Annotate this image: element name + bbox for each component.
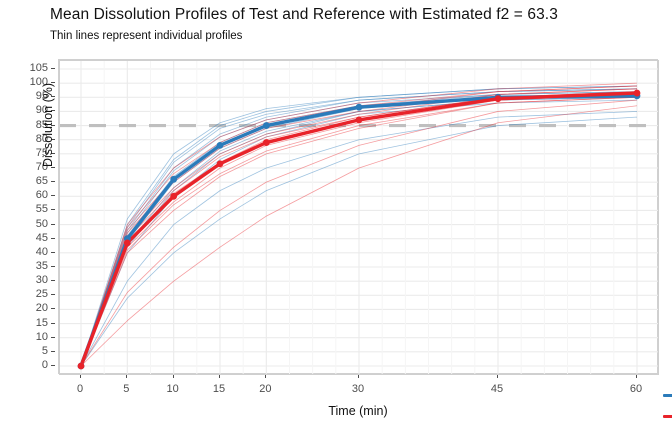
legend-item-r[interactable]: R	[663, 389, 672, 401]
y-tick-mark	[51, 238, 55, 239]
legend-line	[663, 415, 672, 418]
x-tick-label: 0	[77, 383, 83, 395]
plot-area	[59, 60, 659, 375]
legend-line	[663, 394, 672, 397]
y-tick-mark	[51, 308, 55, 309]
x-axis-ticks: 05101520304560	[0, 374, 672, 404]
y-tick-mark	[51, 266, 55, 267]
y-tick-label: 35	[36, 260, 48, 272]
y-tick-label: 30	[36, 274, 48, 286]
legend-item-t[interactable]: T	[663, 410, 672, 422]
chart-title: Mean Dissolution Profiles of Test and Re…	[50, 6, 558, 24]
y-tick-label: 5	[42, 345, 48, 357]
x-tick-label: 30	[352, 383, 364, 395]
y-tick-label: 45	[36, 232, 48, 244]
x-tick-label: 5	[123, 383, 129, 395]
y-tick-label: 20	[36, 302, 48, 314]
legend-swatch-t-icon	[663, 410, 672, 422]
plot-panel: RT	[58, 59, 658, 374]
y-tick-label: 10	[36, 331, 48, 343]
x-tick-label: 15	[213, 383, 225, 395]
dissolution-chart: Mean Dissolution Profiles of Test and Re…	[0, 0, 672, 432]
x-tick-label: 20	[259, 383, 271, 395]
y-tick-mark	[51, 252, 55, 253]
y-tick-mark	[51, 337, 55, 338]
y-tick-mark	[51, 294, 55, 295]
legend-swatch-r-icon	[663, 389, 672, 401]
y-tick-mark	[51, 351, 55, 352]
x-tick-label: 10	[167, 383, 179, 395]
x-tick-label: 60	[630, 383, 642, 395]
y-tick-label: 0	[42, 359, 48, 371]
y-tick-label: 40	[36, 246, 48, 258]
legend: RT	[663, 389, 672, 422]
y-tick-mark	[51, 365, 55, 366]
x-axis-label: Time (min)	[58, 404, 658, 418]
y-tick-label: 15	[36, 317, 48, 329]
y-tick-label: 25	[36, 288, 48, 300]
y-tick-mark	[51, 323, 55, 324]
y-tick-mark	[51, 280, 55, 281]
y-axis-label: Dissolution (%)	[41, 25, 55, 225]
x-tick-label: 45	[491, 383, 503, 395]
chart-subtitle: Thin lines represent individual profiles	[50, 30, 242, 42]
